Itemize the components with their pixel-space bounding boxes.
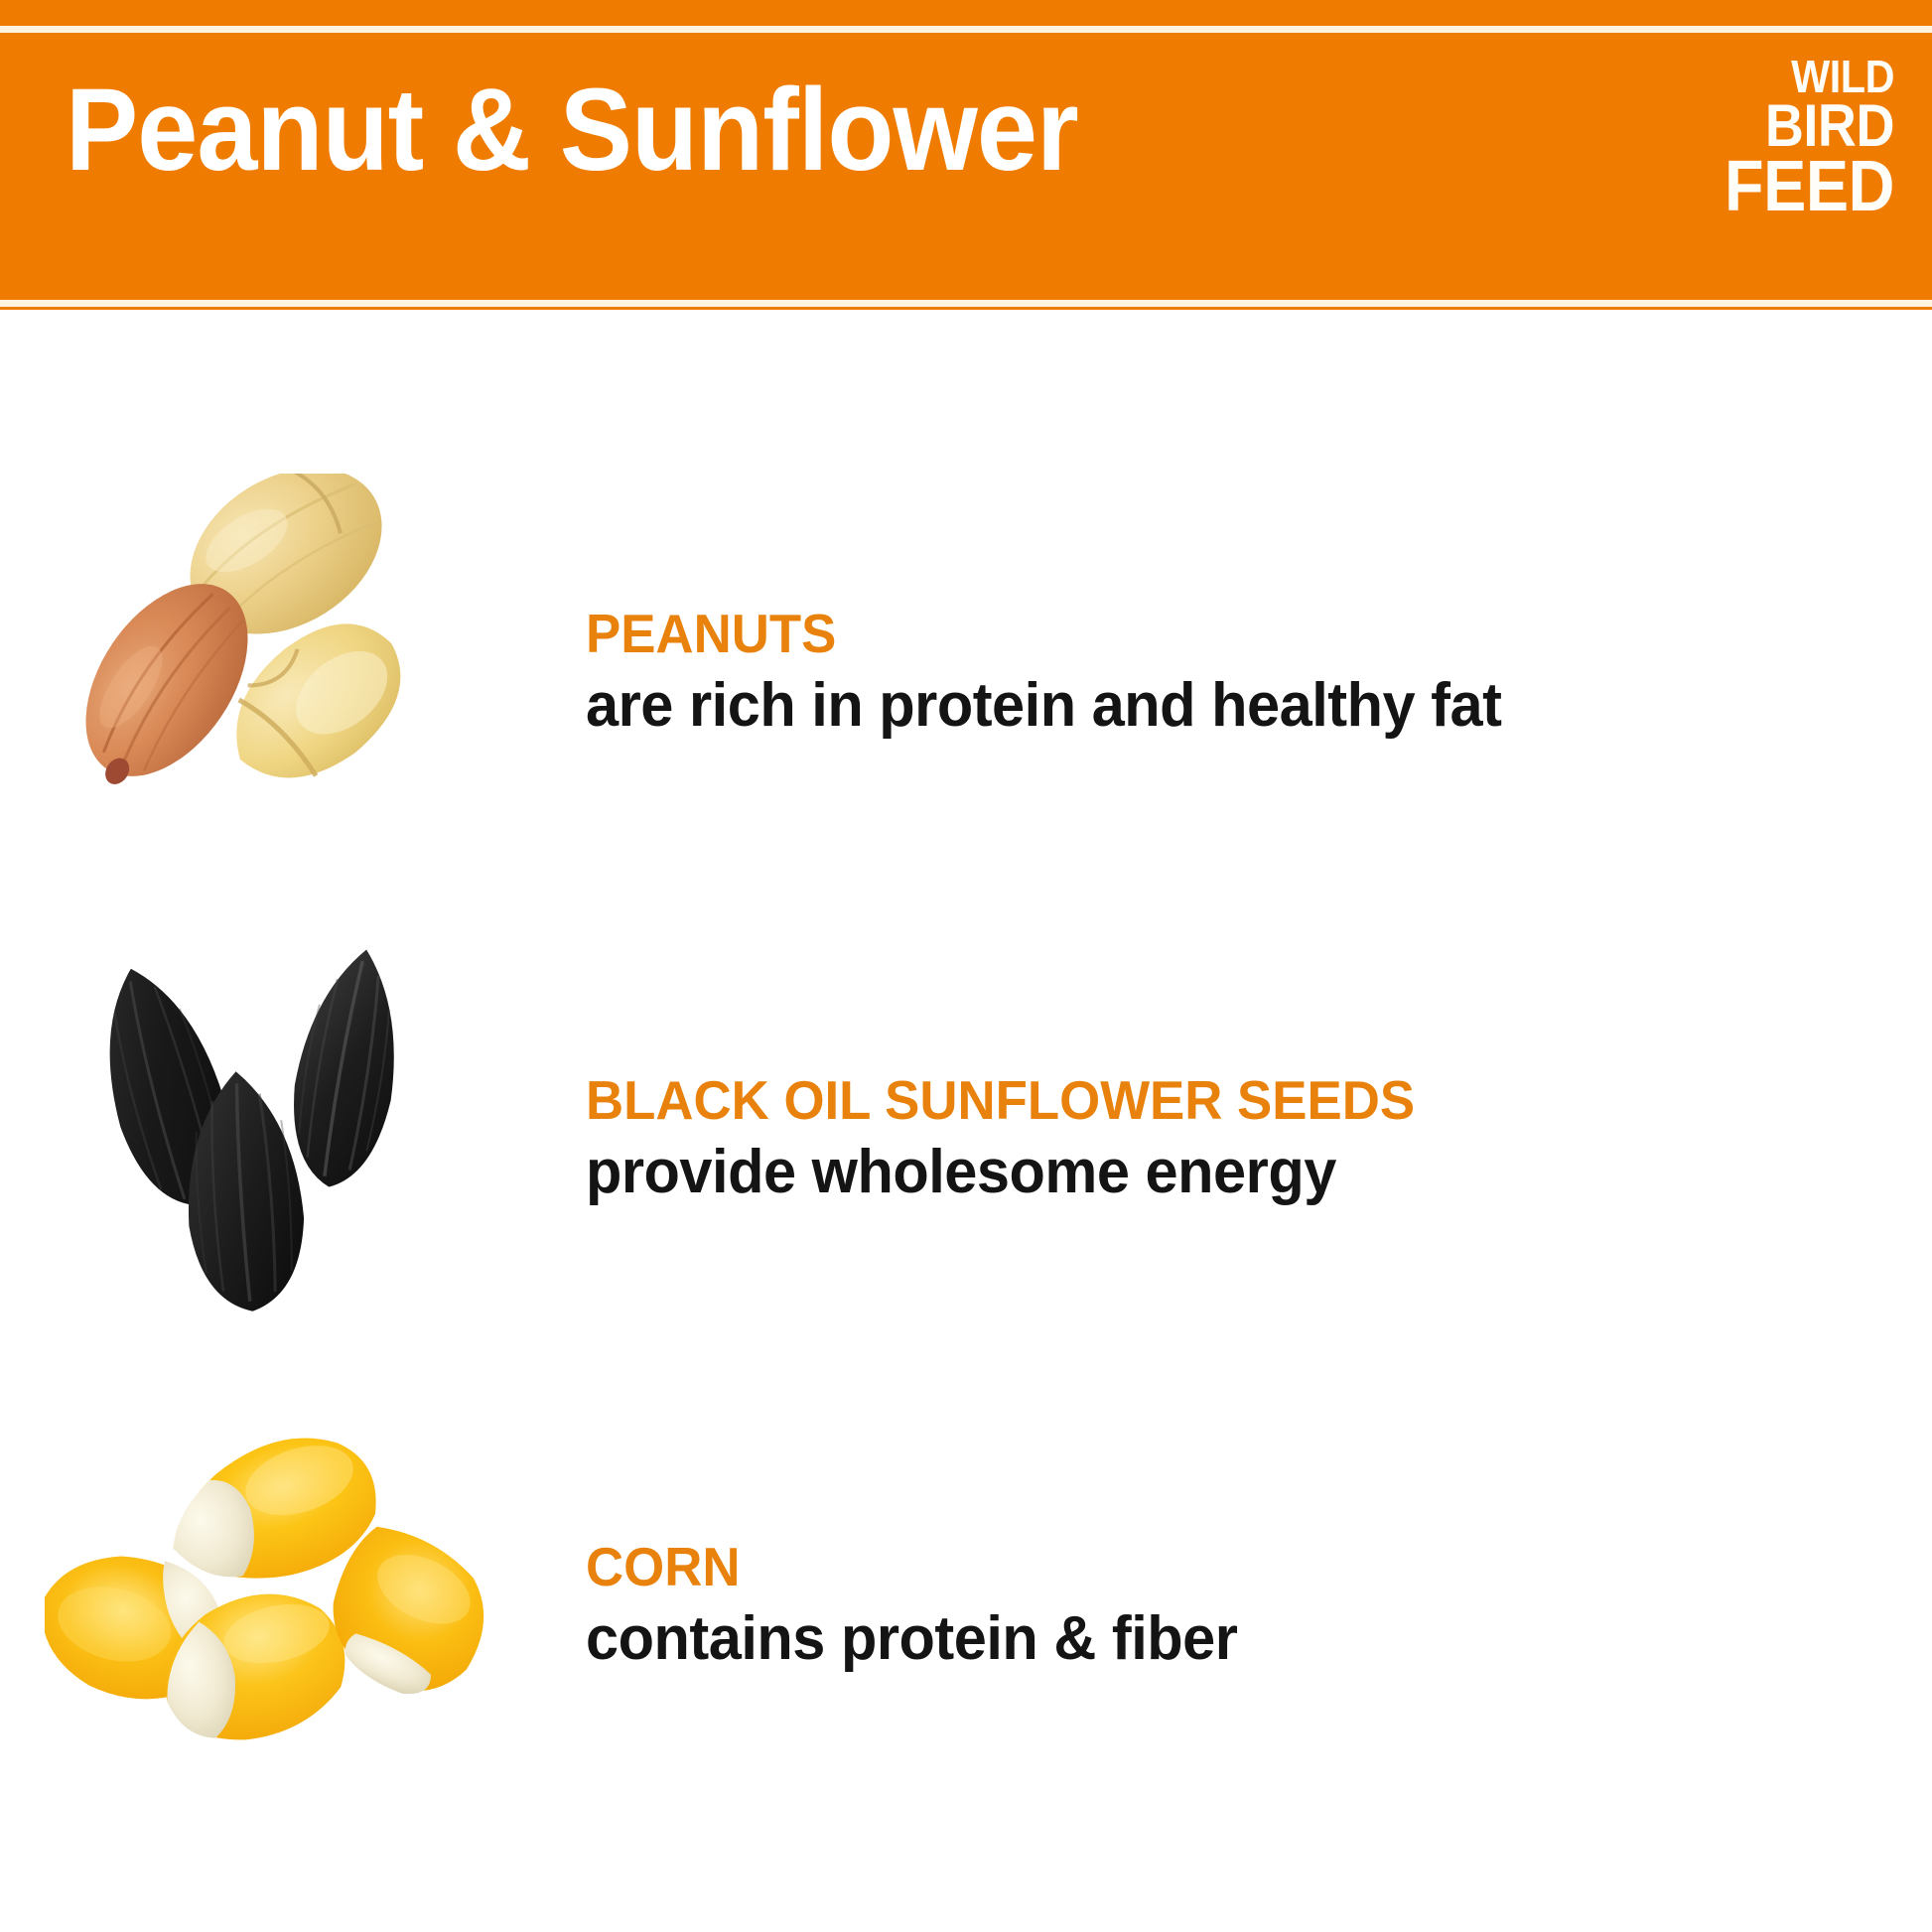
- ingredient-row-peanut: PEANUTS are rich in protein and healthy …: [0, 439, 1932, 905]
- brand-logo: WILD BIRD FEED: [1706, 56, 1894, 220]
- ingredient-heading-peanut: PEANUTS: [586, 604, 1878, 665]
- ingredient-text-sunflower: BLACK OIL SUNFLOWER SEEDS provide wholes…: [556, 1070, 1932, 1206]
- header-rule-bottom: [0, 300, 1932, 307]
- ingredient-description-peanut: are rich in protein and healthy fat: [586, 671, 1878, 740]
- ingredient-text-peanut: PEANUTS are rich in protein and healthy …: [556, 604, 1932, 740]
- ingredient-description-corn: contains protein & fiber: [586, 1604, 1878, 1673]
- corn-kernels-photo: [0, 1397, 556, 1814]
- brand-logo-line-feed: FEED: [1725, 154, 1894, 220]
- header-band: Peanut & Sunflower WILD BIRD FEED: [0, 0, 1932, 310]
- peanuts-photo: [0, 464, 556, 881]
- brand-logo-line-bird: BIRD: [1725, 98, 1894, 154]
- ingredient-description-sunflower: provide wholesome energy: [586, 1138, 1878, 1206]
- header-rule-top: [0, 26, 1932, 33]
- ingredient-heading-sunflower: BLACK OIL SUNFLOWER SEEDS: [586, 1070, 1878, 1132]
- ingredient-text-corn: CORN contains protein & fiber: [556, 1537, 1932, 1673]
- ingredient-heading-corn: CORN: [586, 1537, 1878, 1598]
- ingredient-row-corn: CORN contains protein & fiber: [0, 1372, 1932, 1839]
- black-oil-sunflower-seeds-photo: [0, 930, 556, 1347]
- page-title: Peanut & Sunflower: [66, 71, 1078, 189]
- ingredient-row-sunflower: BLACK OIL SUNFLOWER SEEDS provide wholes…: [0, 905, 1932, 1372]
